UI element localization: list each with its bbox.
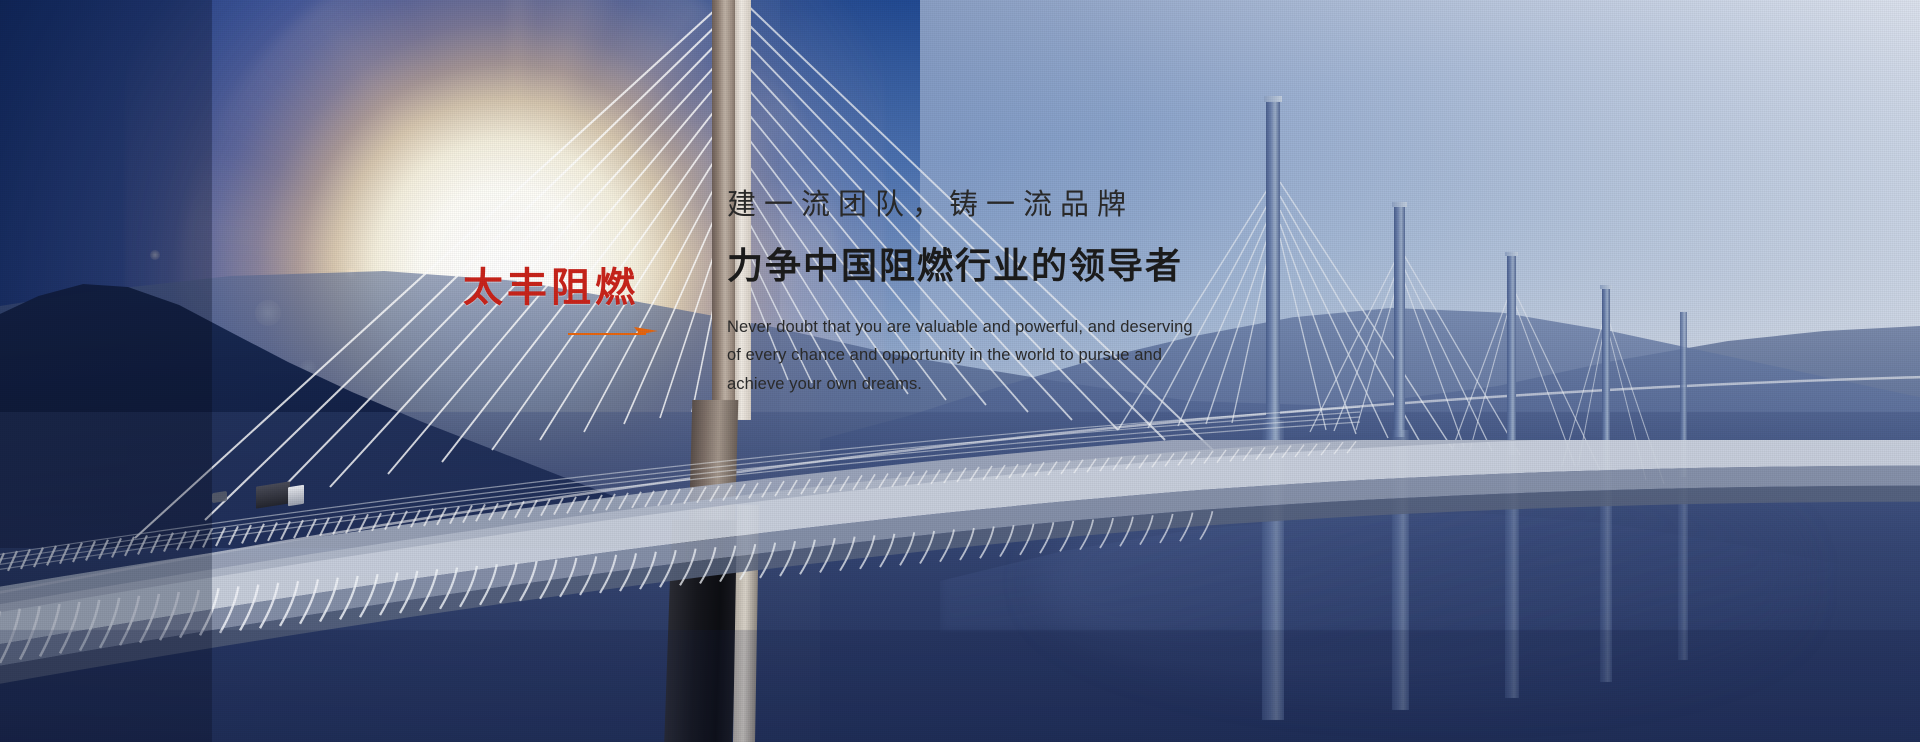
banner-content: 太丰阻燃 建一流团队，铸一流品牌 力争中国阻燃行业的领导者 Never doub…	[0, 0, 1920, 742]
headline-description: Never doubt that you are valuable and po…	[727, 313, 1347, 398]
brand-logo[interactable]: 太丰阻燃	[463, 268, 663, 308]
headline-title: 力争中国阻燃行业的领导者	[727, 244, 1347, 291]
brand-logo-text: 太丰阻燃	[463, 268, 663, 308]
headline-subtitle: 建一流团队，铸一流品牌	[727, 186, 1347, 222]
hero-banner: 太丰阻燃 建一流团队，铸一流品牌 力争中国阻燃行业的领导者 Never doub…	[0, 0, 1920, 742]
arrow-right-icon	[568, 326, 658, 340]
description-line-2: of every chance and opportunity in the w…	[727, 341, 1347, 369]
description-line-3: achieve your own dreams.	[727, 370, 1347, 398]
description-line-1: Never doubt that you are valuable and po…	[727, 313, 1347, 341]
headline-block: 建一流团队，铸一流品牌 力争中国阻燃行业的领导者 Never doubt tha…	[727, 186, 1347, 398]
